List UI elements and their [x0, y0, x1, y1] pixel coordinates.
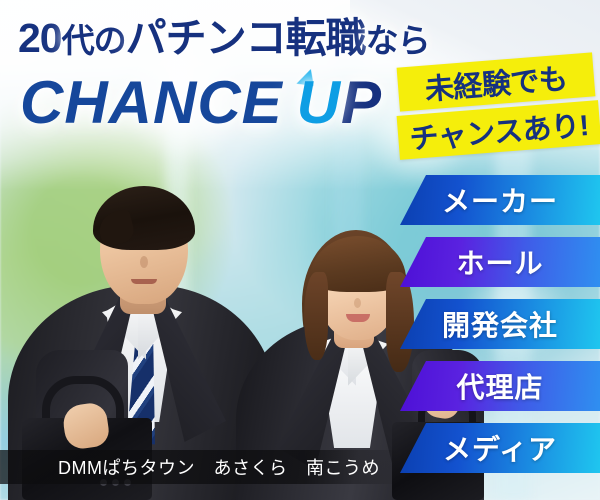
- headline-suffix: なら: [366, 22, 430, 59]
- category-button-developer[interactable]: 開発会社: [400, 299, 600, 349]
- logo-letter-p: P: [341, 69, 382, 136]
- category-label: メディア: [443, 428, 557, 468]
- credit-text: DMMぱちタウン あさくら 南こうめ: [58, 454, 380, 480]
- category-label: メーカー: [442, 180, 558, 220]
- headline-tail: パチンコ転職: [126, 15, 366, 61]
- headline-lead: 20: [18, 15, 62, 61]
- category-list: メーカー ホール 開発会社 代理店 メディア: [400, 175, 600, 485]
- woman-nose: [354, 298, 361, 308]
- woman-hair-side-left: [304, 272, 328, 360]
- category-label: 代理店: [456, 366, 543, 406]
- credit-band: DMMぱちタウン あさくら 南こうめ: [0, 450, 400, 484]
- category-button-agency[interactable]: 代理店: [400, 361, 600, 411]
- logo-word-up: UP: [297, 73, 382, 133]
- category-button-media[interactable]: メディア: [400, 423, 600, 473]
- logo-word-chance: CHANCE: [20, 69, 283, 136]
- headline-mid: 代の: [62, 22, 126, 59]
- category-label: ホール: [456, 242, 543, 282]
- category-label: 開発会社: [442, 304, 558, 344]
- logo-letter-u: U: [297, 69, 341, 136]
- man-mouth: [131, 279, 157, 284]
- category-button-hall[interactable]: ホール: [400, 237, 600, 287]
- chance-up-logo: CHANCEUP: [20, 73, 382, 133]
- headline: 20代のパチンコ転職なら: [18, 18, 430, 59]
- category-button-maker[interactable]: メーカー: [400, 175, 600, 225]
- man-nose: [140, 256, 148, 268]
- man-hair: [93, 186, 195, 250]
- promo-banner: 20代のパチンコ転職なら CHANCEUP 未経験でも チャンスあり! メーカー…: [0, 0, 600, 500]
